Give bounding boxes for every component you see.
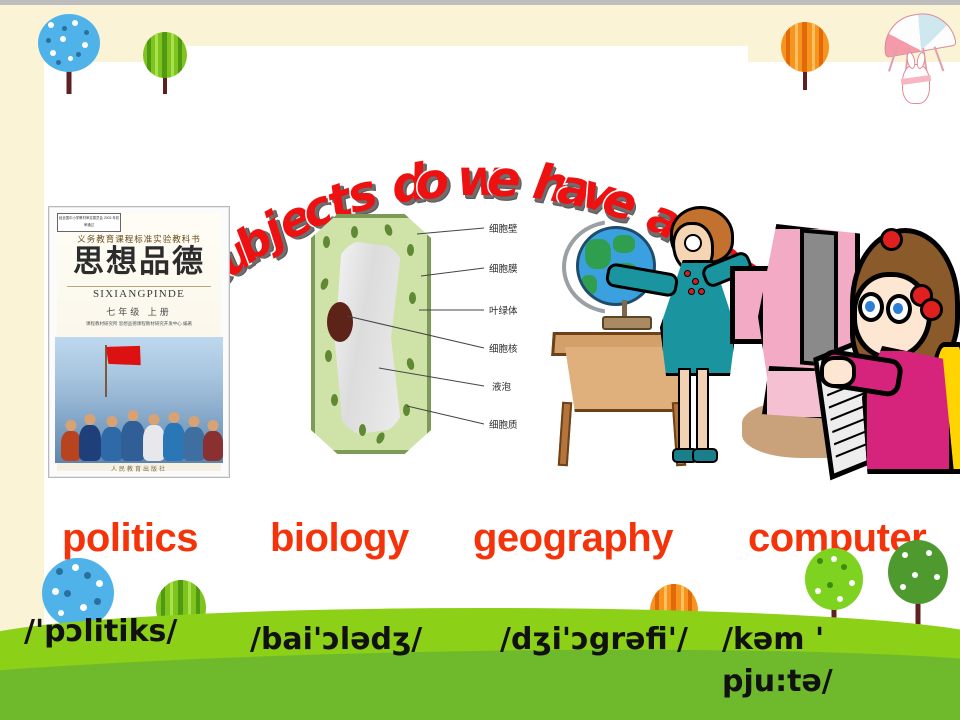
monitor-screen xyxy=(800,228,838,367)
cell-label-1: 细胞膜 xyxy=(489,261,518,275)
phonetic-geography: /dʒi'ɔgrəfi'/ xyxy=(500,622,688,657)
teacher-figure xyxy=(644,204,739,464)
phonetic-computer: /kəm ' xyxy=(722,622,824,657)
textbook-title: 思想品德 xyxy=(49,245,229,279)
textbook-grade: 七年级 上册 xyxy=(49,305,229,318)
parachute-canopy xyxy=(879,8,957,58)
illustration-row: 经全国中小学教材审定委员会 2003 年初审通过 义务教育课程标准实验教科书 思… xyxy=(44,200,960,490)
cell-label-4: 液泡 xyxy=(492,379,511,393)
orange-striped-tree-top-right xyxy=(781,22,829,90)
top-gray-strip xyxy=(0,0,960,5)
bunny-icon xyxy=(902,64,930,104)
subject-word-biology: biology xyxy=(270,516,409,561)
textbook-publisher: 人民教育出版社 xyxy=(49,464,229,473)
slide-canvas: What subjects do we have at school? 经全国中… xyxy=(0,0,960,720)
textbook-pinyin: SIXIANGPINDE xyxy=(49,288,229,300)
girl-at-computer-illustration xyxy=(734,214,960,464)
subject-word-politics: politics xyxy=(62,516,198,561)
chinese-flag-icon xyxy=(106,343,142,368)
phonetic-biology: /bai'ɔlədʒ/ xyxy=(250,622,422,657)
cell-label-2: 叶绿体 xyxy=(489,303,518,317)
teacher-with-globe-illustration xyxy=(544,204,739,464)
cell-label-5: 细胞质 xyxy=(489,417,518,431)
cell-label-3: 细胞核 xyxy=(489,341,518,355)
cell-label-0: 细胞壁 xyxy=(489,221,518,235)
plant-cell-diagram: 细胞壁 细胞膜 叶绿体 细胞核 液泡 细胞质 xyxy=(299,206,549,456)
green-striped-tree-top-left xyxy=(143,32,187,94)
blue-dotted-tree-top-left xyxy=(38,14,100,94)
phonetic-computer-line2: pju:tə/ xyxy=(722,664,833,699)
rabbit-parachute-icon xyxy=(880,14,954,106)
textbook-photo xyxy=(55,337,223,463)
textbook-editor: 课程教材研究所 思想品德课程教材研究开发中心 编著 xyxy=(49,321,229,327)
content-panel-title-extension xyxy=(178,46,748,86)
textbook-stamp: 经全国中小学教材审定委员会 2003 年初审通过 xyxy=(57,213,121,232)
phonetic-politics: /'pɔlitiks/ xyxy=(24,614,177,649)
subject-word-geography: geography xyxy=(473,516,673,561)
politics-textbook-cover: 经全国中小学教材审定委员会 2003 年初审通过 义务教育课程标准实验教科书 思… xyxy=(48,206,230,478)
